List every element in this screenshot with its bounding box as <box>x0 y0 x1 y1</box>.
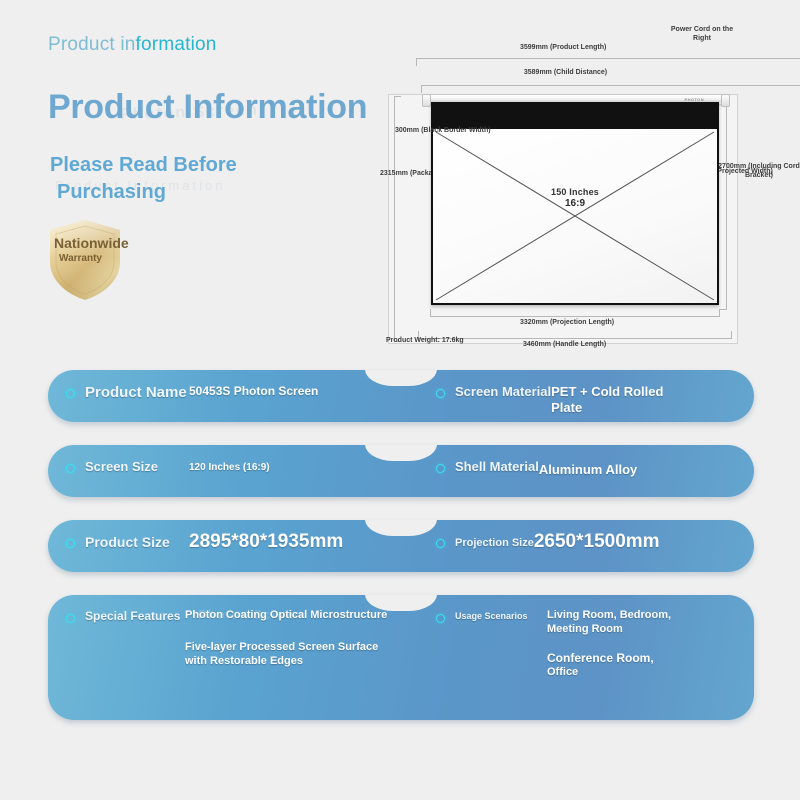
bullet-icon <box>66 614 75 623</box>
dim-label-cord-bracket: 2700mm (Including Cord Bracket) <box>718 163 800 181</box>
warranty-badge-text: Nationwide Warranty <box>54 236 194 264</box>
spec-label: Shell Material <box>455 459 539 475</box>
page-kicker-part-b: formation <box>136 34 217 55</box>
scenario-item-2-line-2: Office <box>547 666 671 680</box>
spec-value: 2895*80*1935mm <box>189 530 343 553</box>
spec-label: Usage Scenarios <box>455 609 547 622</box>
hero-section: Photon Screen Product Information Produc… <box>0 0 400 360</box>
page-subtitle: Please Read Before Purchasing <box>50 152 310 206</box>
screen-projection-surface: 150 Inches 16:9 <box>433 129 717 303</box>
product-dimension-diagram: 3599mm (Product Length) 3589mm (Child Di… <box>380 22 800 357</box>
bullet-icon <box>436 614 445 623</box>
dim-label-product-length: 3599mm (Product Length) <box>520 44 606 53</box>
dim-bracket-handle-length <box>418 331 732 339</box>
feature-item-2-line-2: with Restorable Edges <box>185 655 387 668</box>
spec-value: 120 Inches (16:9) <box>189 459 270 474</box>
warranty-badge-line-2: Warranty <box>59 253 194 264</box>
housing-end-left <box>422 94 431 107</box>
bullet-icon <box>436 389 445 398</box>
dim-label-projection-length: 3320mm (Projection Length) <box>520 319 614 328</box>
spec-value: 2650*1500mm <box>534 530 660 553</box>
warranty-badge-line-1: Nationwide <box>54 236 194 251</box>
dim-bracket-child-distance <box>421 85 800 93</box>
spec-cell-shell-material: Shell Material Aluminum Alloy <box>430 445 754 497</box>
spec-cell-screen-material: Screen Material PET + Cold Rolled Plate <box>430 370 754 422</box>
spec-bar-product-name: Product Name 50453S Photon Screen Screen… <box>48 370 754 422</box>
spec-cell-projection-size: Projection Size 2650*1500mm <box>430 520 754 572</box>
page-kicker: Product information <box>48 34 217 56</box>
dim-label-black-border: 300mm (Black Border Width) <box>395 127 491 136</box>
spec-label: Screen Material <box>455 384 551 400</box>
spec-bar-screen-size: Screen Size 120 Inches (16:9) Shell Mate… <box>48 445 754 497</box>
scenario-item-1-line-2: Meeting Room <box>547 623 671 637</box>
feature-item-1: Photon Coating Optical Microstructure <box>185 609 387 622</box>
spec-cell-usage-scenarios: Usage Scenarios Living Room, Bedroom, Me… <box>430 595 754 720</box>
bullet-icon <box>66 389 75 398</box>
spec-value: PET + Cold Rolled Plate <box>551 384 691 416</box>
spec-cell-product-name: Product Name 50453S Photon Screen <box>48 370 430 422</box>
spec-value: Aluminum Alloy <box>539 459 639 478</box>
spec-cell-special-features: Special Features Photon Coating Optical … <box>48 595 430 720</box>
page-subtitle-line-1: Please Read Before <box>50 154 237 176</box>
dim-label-product-weight: Product Weight: 17.6kg <box>386 337 464 344</box>
dim-bracket-product-length <box>416 58 800 66</box>
feature-item-2-line-1: Five-layer Processed Screen Surface <box>185 641 387 654</box>
spec-bar-product-size: Product Size 2895*80*1935mm Projection S… <box>48 520 754 572</box>
scenario-item-1-line-1: Living Room, Bedroom, <box>547 609 671 623</box>
spec-cell-product-size: Product Size 2895*80*1935mm <box>48 520 430 572</box>
warranty-badge: Nationwide Warranty <box>46 218 124 302</box>
dim-bracket-projection-length <box>430 309 720 317</box>
spec-label: Projection Size <box>455 534 534 550</box>
spec-value: 50453S Photon Screen <box>189 384 318 399</box>
dim-label-handle-length: 3460mm (Handle Length) <box>523 341 606 350</box>
spec-value-group: Photon Coating Optical Microstructure Fi… <box>185 609 387 668</box>
spec-label: Special Features <box>85 609 185 624</box>
housing-end-right <box>721 94 730 107</box>
page-subtitle-line-2: Purchasing <box>50 179 310 206</box>
spec-label: Product Name <box>85 384 189 402</box>
page-title: Product Information <box>48 88 367 127</box>
bullet-icon <box>436 464 445 473</box>
screen-diagonal-cross-icon <box>433 129 717 303</box>
spec-value-group: Living Room, Bedroom, Meeting Room Confe… <box>547 609 671 679</box>
spec-label: Product Size <box>85 534 189 551</box>
scenario-item-2-line-1: Conference Room, <box>547 651 671 666</box>
bullet-icon <box>66 464 75 473</box>
bullet-icon <box>66 539 75 548</box>
specification-bars: Product Name 50453S Photon Screen Screen… <box>48 370 754 720</box>
page-kicker-part-a: Product in <box>48 34 136 55</box>
dim-bracket-projected-width <box>720 102 727 310</box>
spec-label: Screen Size <box>85 459 189 475</box>
dim-label-power-cord: Power Cord on the Right <box>670 26 734 44</box>
spec-bar-special-features: Photon Screen Special Features Photon Co… <box>48 595 754 720</box>
bullet-icon <box>436 539 445 548</box>
dim-label-child-distance: 3589mm (Child Distance) <box>513 69 618 78</box>
spec-cell-screen-size: Screen Size 120 Inches (16:9) <box>48 445 430 497</box>
